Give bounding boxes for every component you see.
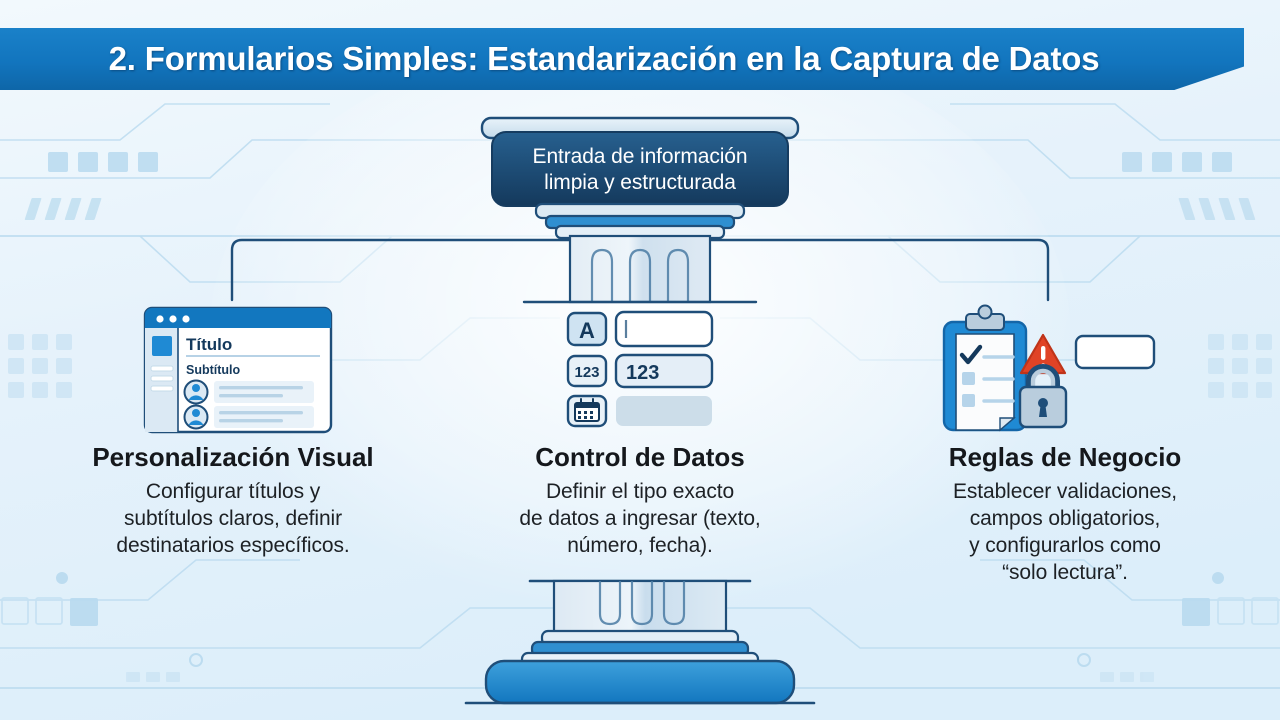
column-personalizacion-visual: Personalización Visual Configurar título…: [48, 443, 418, 559]
column-body-middle: Definir el tipo exacto de datos a ingres…: [470, 478, 810, 559]
column-control-de-datos: Control de Datos Definir el tipo exacto …: [470, 443, 810, 559]
column-title-left: Personalización Visual: [48, 443, 418, 472]
column-title-middle: Control de Datos: [470, 443, 810, 472]
column-reglas-de-negocio: Reglas de Negocio Establecer validacione…: [872, 443, 1258, 586]
slide-canvas: Entrada de información limpia y estructu…: [0, 0, 1280, 720]
padlock-icon: [1020, 367, 1066, 427]
column-title-right: Reglas de Negocio: [872, 443, 1258, 472]
page-title: 2. Formularios Simples: Estandarización …: [0, 28, 1208, 90]
clipboard-icon: [944, 306, 1026, 431]
slide-title-banner: 2. Formularios Simples: Estandarización …: [0, 28, 1244, 90]
readonly-input-box: [1076, 336, 1154, 368]
column-body-right: Establecer validaciones, campos obligato…: [872, 478, 1258, 586]
column-body-left: Configurar títulos y subtítulos claros, …: [48, 478, 418, 559]
clipboard-rules-icon: [0, 0, 1280, 720]
